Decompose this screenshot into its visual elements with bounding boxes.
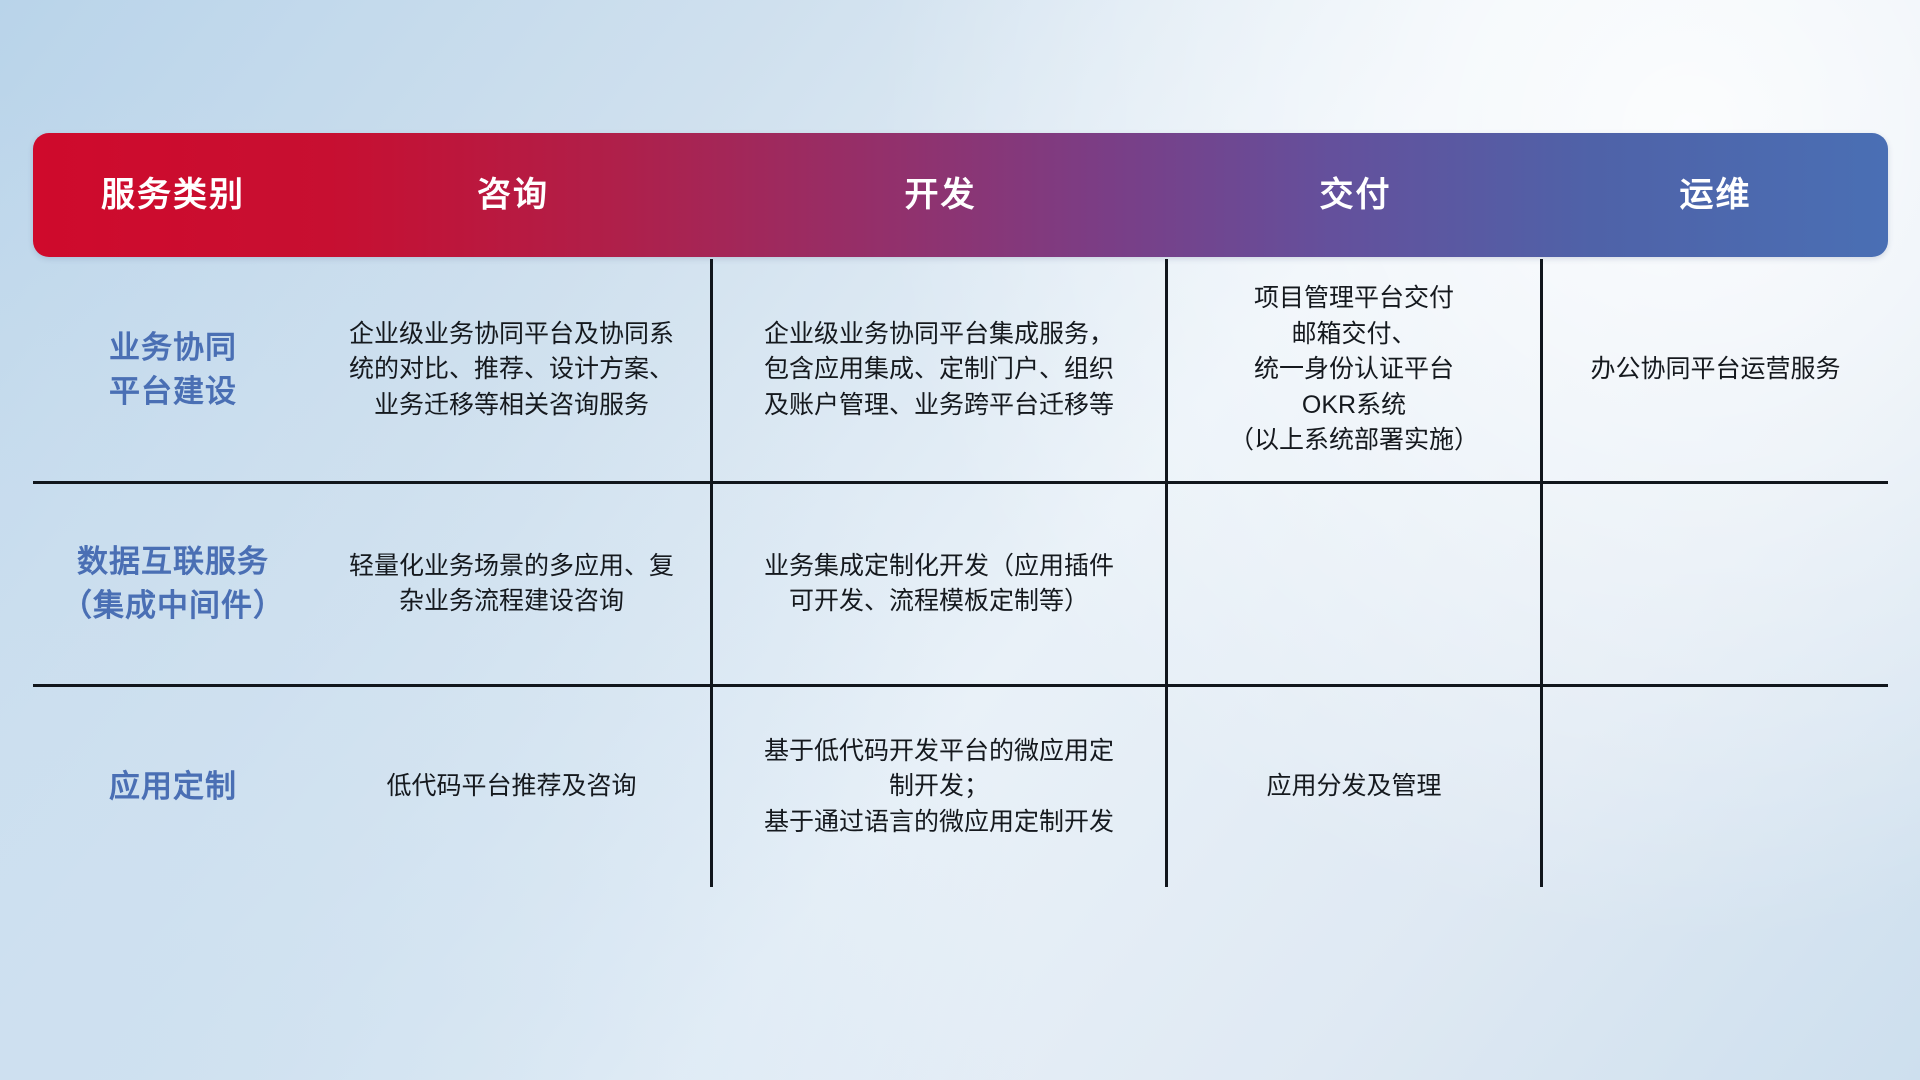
cell-operations [1543,484,1888,684]
cell-operations: 办公协同平台运营服务 [1543,259,1888,481]
cell-consulting: 低代码平台推荐及咨询 [313,687,713,887]
header-consulting: 咨询 [313,178,713,212]
table-row: 数据互联服务 （集成中间件） 轻量化业务场景的多应用、复 杂业务流程建设咨询 业… [33,484,1888,687]
cell-consulting: 企业级业务协同平台及协同系 统的对比、推荐、设计方案、 业务迁移等相关咨询服务 [313,259,713,481]
row-category-label: 业务协同 平台建设 [33,259,313,481]
cell-development: 业务集成定制化开发（应用插件 可开发、流程模板定制等） [713,484,1168,684]
header-service-category: 服务类别 [33,178,313,212]
slide-canvas: 服务类别 咨询 开发 交付 运维 业务协同 平台建设 企业级业务协同平台及协同系… [0,0,1920,1080]
cell-delivery: 项目管理平台交付 邮箱交付、 统一身份认证平台 OKR系统 （以上系统部署实施） [1168,259,1543,481]
header-development: 开发 [713,178,1168,212]
cell-operations [1543,687,1888,887]
table-row: 应用定制 低代码平台推荐及咨询 基于低代码开发平台的微应用定 制开发； 基于通过… [33,687,1888,887]
table-body: 业务协同 平台建设 企业级业务协同平台及协同系 统的对比、推荐、设计方案、 业务… [33,259,1888,887]
cell-delivery: 应用分发及管理 [1168,687,1543,887]
cell-development: 企业级业务协同平台集成服务， 包含应用集成、定制门户、组织 及账户管理、业务跨平… [713,259,1168,481]
cell-development: 基于低代码开发平台的微应用定 制开发； 基于通过语言的微应用定制开发 [713,687,1168,887]
table-row: 业务协同 平台建设 企业级业务协同平台及协同系 统的对比、推荐、设计方案、 业务… [33,259,1888,484]
service-matrix-table: 服务类别 咨询 开发 交付 运维 业务协同 平台建设 企业级业务协同平台及协同系… [33,133,1888,963]
row-category-label: 数据互联服务 （集成中间件） [33,484,313,684]
row-category-label: 应用定制 [33,687,313,887]
cell-delivery [1168,484,1543,684]
table-header-row: 服务类别 咨询 开发 交付 运维 [33,133,1888,257]
header-delivery: 交付 [1168,178,1543,212]
header-operations: 运维 [1543,178,1888,212]
cell-consulting: 轻量化业务场景的多应用、复 杂业务流程建设咨询 [313,484,713,684]
